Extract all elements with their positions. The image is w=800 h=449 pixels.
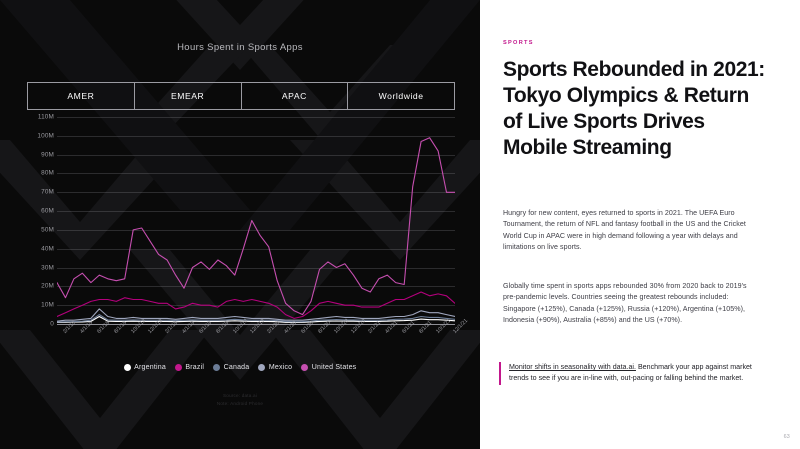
source-line-1: Source: data.ai xyxy=(0,392,480,400)
line-chart: 110M100M90M80M70M60M50M40M30M20M10M0 2/1… xyxy=(27,117,455,324)
y-tick-label: 10M xyxy=(41,302,54,309)
chart-title: Hours Spent in Sports Apps xyxy=(0,42,480,53)
y-axis-labels: 110M100M90M80M70M60M50M40M30M20M10M0 xyxy=(27,117,57,324)
y-tick-label: 110M xyxy=(38,114,54,121)
x-axis-labels: 2/1/184/1/186/1/188/1/1810/1/1812/1/182/… xyxy=(57,325,455,359)
legend-item-argentina[interactable]: Argentina xyxy=(124,364,166,371)
page-number: 63 xyxy=(784,434,790,440)
tab-worldwide[interactable]: Worldwide xyxy=(347,82,455,110)
article-callout: Monitor shifts in seasonality with data.… xyxy=(499,362,757,385)
y-tick-label: 0 xyxy=(50,321,54,328)
slide-page: Hours Spent in Sports Apps AMER EMEAR AP… xyxy=(0,0,800,449)
legend-label: United States xyxy=(312,364,357,371)
legend-swatch-icon xyxy=(301,364,308,371)
article-headline: Sports Rebounded in 2021: Tokyo Olympics… xyxy=(503,57,765,161)
chart-legend[interactable]: ArgentinaBrazilCanadaMexicoUnited States xyxy=(0,364,480,371)
series-line-brazil xyxy=(57,292,455,318)
y-tick-label: 50M xyxy=(41,226,54,233)
y-tick-label: 60M xyxy=(41,208,54,215)
tab-amer[interactable]: AMER xyxy=(27,82,134,110)
y-tick-label: 80M xyxy=(41,170,54,177)
source-line-2: Note: Android Phone xyxy=(0,400,480,408)
series-line-united-states xyxy=(57,138,455,315)
legend-item-mexico[interactable]: Mexico xyxy=(258,364,292,371)
article-paragraph-2: Globally time spent in sports apps rebou… xyxy=(503,281,755,327)
y-tick-label: 90M xyxy=(41,151,54,158)
chart-source-note: Source: data.ai Note: Android Phone xyxy=(0,392,480,407)
legend-swatch-icon xyxy=(258,364,265,371)
chart-panel: Hours Spent in Sports Apps AMER EMEAR AP… xyxy=(0,0,480,449)
legend-item-canada[interactable]: Canada xyxy=(213,364,249,371)
y-tick-label: 30M xyxy=(41,264,54,271)
callout-link[interactable]: Monitor shifts in seasonality with data.… xyxy=(509,363,636,371)
legend-swatch-icon xyxy=(124,364,131,371)
y-tick-label: 20M xyxy=(41,283,54,290)
category-eyebrow: SPORTS xyxy=(503,40,534,46)
y-tick-label: 40M xyxy=(41,245,54,252)
chart-plot-lines xyxy=(57,117,455,324)
legend-label: Mexico xyxy=(269,364,292,371)
y-tick-label: 100M xyxy=(37,132,54,139)
legend-swatch-icon xyxy=(175,364,182,371)
legend-swatch-icon xyxy=(213,364,220,371)
legend-item-brazil[interactable]: Brazil xyxy=(175,364,204,371)
legend-label: Argentina xyxy=(134,364,166,371)
tab-apac[interactable]: APAC xyxy=(241,82,348,110)
article-panel: SPORTS Sports Rebounded in 2021: Tokyo O… xyxy=(480,0,800,449)
y-tick-label: 70M xyxy=(41,189,54,196)
tab-emear[interactable]: EMEAR xyxy=(134,82,241,110)
article-paragraph-1: Hungry for new content, eyes returned to… xyxy=(503,208,755,254)
legend-label: Brazil xyxy=(185,364,204,371)
legend-item-united-states[interactable]: United States xyxy=(301,364,356,371)
legend-label: Canada xyxy=(224,364,250,371)
region-tab-bar[interactable]: AMER EMEAR APAC Worldwide xyxy=(27,82,455,110)
